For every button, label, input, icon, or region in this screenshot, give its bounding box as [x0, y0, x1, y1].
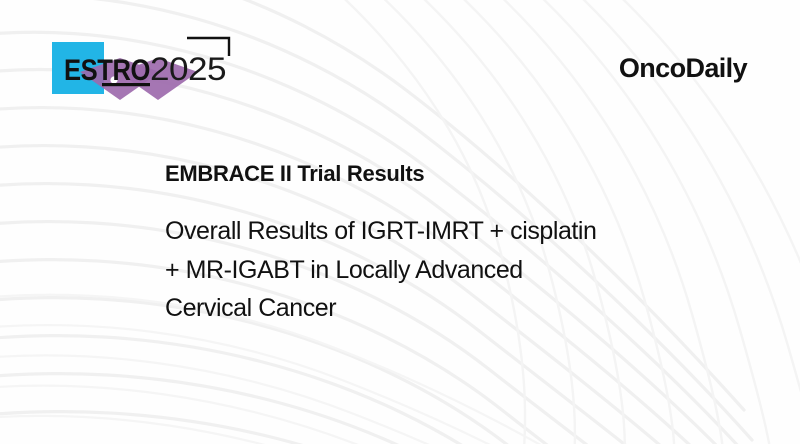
logo-wordmark: ESTRO	[64, 54, 150, 87]
estro-2025-logo: ESTRO 2025	[46, 32, 246, 110]
subtitle-line-3: Cervical Cancer	[165, 289, 765, 328]
logo-underline	[102, 83, 150, 86]
slide-canvas: ESTRO 2025 OncoDaily EMBRACE II Trial Re…	[0, 0, 800, 444]
oncodaily-brand-wordmark: OncoDaily	[619, 55, 747, 82]
slide-text-block: EMBRACE II Trial Results Overall Results…	[165, 162, 765, 328]
page-title: EMBRACE II Trial Results	[165, 162, 765, 186]
slide-subtitle: Overall Results of IGRT-IMRT + cisplatin…	[165, 212, 765, 328]
subtitle-line-2: + MR-IGABT in Locally Advanced	[165, 251, 765, 290]
logo-year: 2025	[150, 51, 226, 87]
subtitle-line-1: Overall Results of IGRT-IMRT + cisplatin	[165, 212, 765, 251]
